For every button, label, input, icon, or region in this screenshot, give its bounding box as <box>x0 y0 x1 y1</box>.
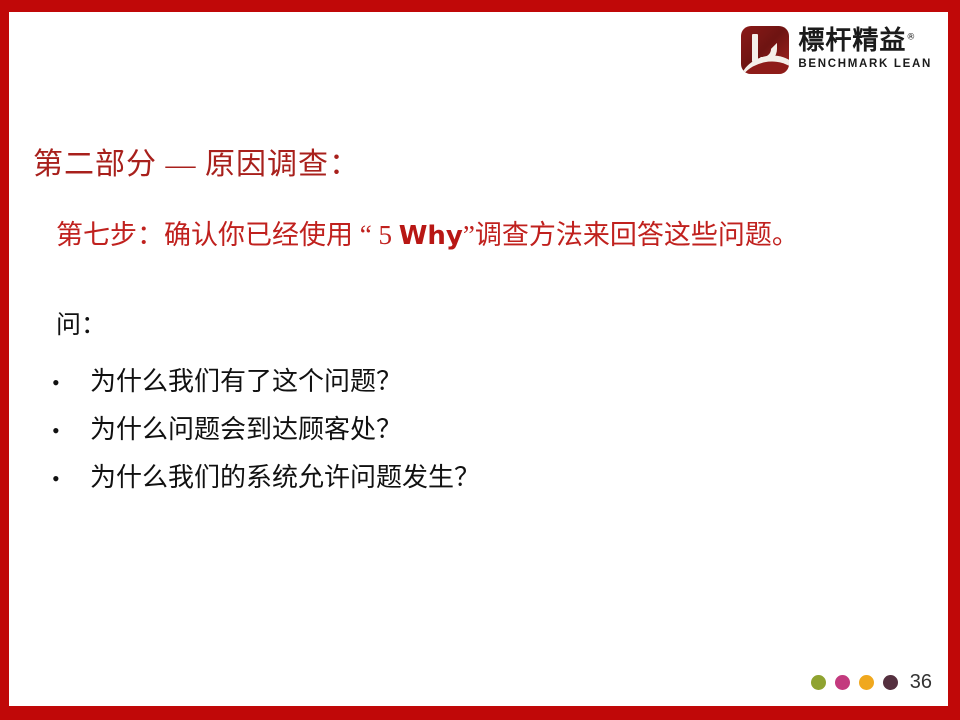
bullet-icon: • <box>52 455 90 502</box>
dot-olive-icon <box>811 675 826 690</box>
step-suffix: ”调查方法来回答这些问题。 <box>463 220 799 250</box>
list-item: • 为什么我们有了这个问题？ <box>52 358 480 406</box>
question-text: 为什么我们的系统允许问题发生？ <box>90 454 480 501</box>
step-number: 5 <box>378 220 398 250</box>
step-prefix: 第七步：确认你已经使用 “ <box>56 220 378 250</box>
question-text: 为什么问题会到达顾客处？ <box>90 406 402 453</box>
list-item: • 为什么问题会到达顾客处？ <box>52 406 480 454</box>
dot-plum-icon <box>883 675 898 690</box>
bullet-icon: • <box>52 359 90 406</box>
page-number: 36 <box>910 672 932 692</box>
question-list: • 为什么我们有了这个问题？ • 为什么问题会到达顾客处？ • 为什么我们的系统… <box>52 358 480 502</box>
bullet-icon: • <box>52 407 90 454</box>
ask-label: 问： <box>56 305 106 341</box>
slide-content: 第二部分 — 原因调查： 第七步：确认你已经使用 “ 5 Why”调查方法来回答… <box>0 0 960 720</box>
slide-canvas: 標杆精益® BENCHMARK LEAN 第二部分 — 原因调查： 第七步：确认… <box>0 0 960 720</box>
list-item: • 为什么我们的系统允许问题发生？ <box>52 454 480 502</box>
question-text: 为什么我们有了这个问题？ <box>90 358 402 405</box>
step-emphasis: Why <box>399 221 463 251</box>
step-statement: 第七步：确认你已经使用 “ 5 Why”调查方法来回答这些问题。 <box>56 212 936 259</box>
dot-magenta-icon <box>835 675 850 690</box>
slide-footer: 36 <box>811 670 932 694</box>
section-title: 第二部分 — 原因调查： <box>33 139 360 183</box>
dot-amber-icon <box>859 675 874 690</box>
